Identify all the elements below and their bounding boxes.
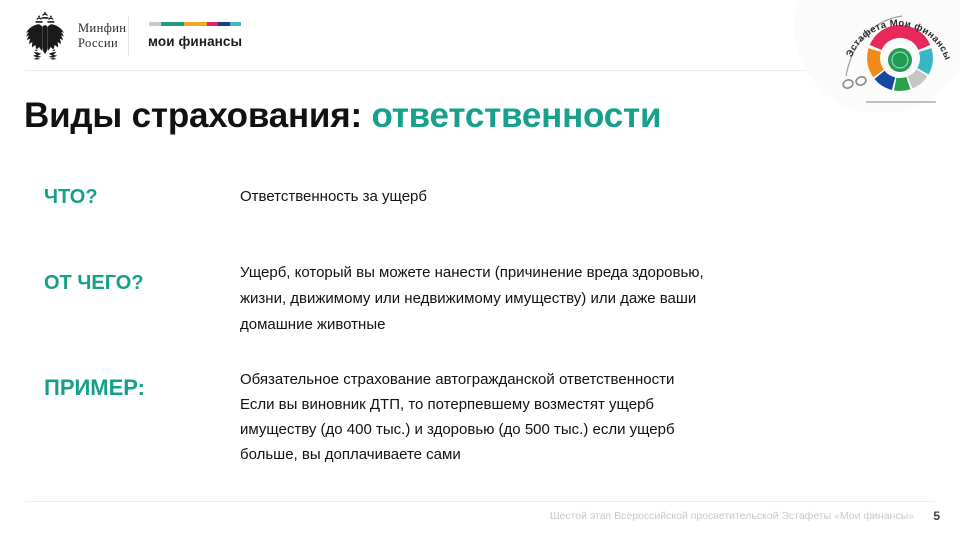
row-from-what-line: домашние животные [240, 312, 940, 338]
estafeta-badge: Эстафета Мои финансы [788, 0, 960, 112]
row-from-what-label: ОТ ЧЕГО? [44, 272, 144, 295]
logo-divider [128, 16, 129, 56]
minfin-label: Минфин России [78, 21, 126, 51]
row-example-line: Обязательное страхование автогражданской… [240, 367, 940, 392]
slide-root: Минфин России мои финансы [0, 0, 960, 540]
russian-coat-of-arms-icon [22, 12, 68, 60]
page-title-accent: ответственности [371, 96, 661, 135]
page-title: Виды страхования: ответственности [24, 96, 661, 136]
row-example-line: имуществу (до 400 тыс.) и здоровью (до 5… [240, 417, 940, 442]
row-what-line: Ответственность за ущерб [240, 186, 940, 208]
page-title-main: Виды страхования: [24, 96, 362, 135]
brand-color-bar [149, 22, 241, 26]
slide-header: Минфин России мои финансы [0, 0, 960, 71]
minfin-label-line2: России [78, 36, 126, 51]
row-example-label: ПРИМЕР: [44, 375, 145, 401]
row-what-body: Ответственность за ущерб [240, 186, 940, 208]
row-example-body: Обязательное страхование автогражданской… [240, 367, 940, 467]
page-number: 5 [933, 509, 940, 523]
row-from-what-body: Ущерб, который вы можете нанести (причин… [240, 260, 940, 338]
row-example-line: больше, вы доплачиваете сами [240, 442, 940, 467]
row-from-what-line: жизни, движимому или недвижимому имущест… [240, 286, 940, 312]
row-example-line: Если вы виновник ДТП, то потерпевшему во… [240, 392, 940, 417]
minfin-label-line1: Минфин [78, 21, 126, 36]
brand-wordmark: мои финансы [148, 34, 244, 49]
row-from-what-line: Ущерб, который вы можете нанести (причин… [240, 260, 940, 286]
footer-caption: Шестой этап Всероссийской просветительск… [550, 510, 914, 522]
moi-finansy-logo: мои финансы [148, 22, 244, 49]
row-what-label: ЧТО? [44, 186, 98, 209]
minfin-logo: Минфин России [22, 12, 126, 60]
footer-divider [25, 501, 935, 502]
